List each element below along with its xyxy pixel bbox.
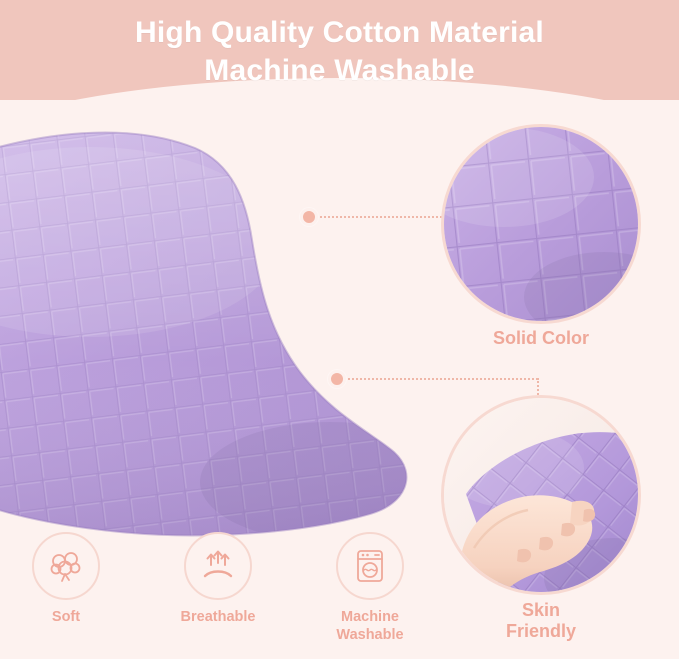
washing-machine-icon [336, 532, 404, 600]
feature-machine-washable-label: Machine Washable [322, 608, 418, 644]
product-pillow-image [0, 122, 440, 542]
callout-dot-solid-color [300, 208, 318, 226]
feature-soft: Soft [18, 532, 114, 644]
page-title: High Quality Cotton Material Machine Was… [0, 14, 679, 91]
callout-label-skin-friendly: Skin Friendly [431, 600, 651, 641]
feature-machine-washable-label-line2: Washable [322, 626, 418, 644]
cotton-ball-icon [32, 532, 100, 600]
product-infographic: High Quality Cotton Material Machine Was… [0, 0, 679, 659]
callout-label-solid-color-line1: Solid Color [493, 328, 589, 348]
title-line-1: High Quality Cotton Material [135, 16, 544, 49]
breathable-arrows-glyph [200, 549, 236, 583]
feature-soft-label-line1: Soft [52, 609, 80, 625]
header-banner: High Quality Cotton Material Machine Was… [0, 0, 679, 112]
solid-color-closeup [444, 127, 641, 324]
cotton-ball-glyph [48, 549, 84, 583]
callout-label-skin-friendly-line1: Skin [522, 600, 560, 620]
callout-label-solid-color: Solid Color [431, 328, 651, 349]
connector-line-top [320, 216, 442, 218]
feature-breathable-label: Breathable [170, 608, 266, 626]
callout-dot-skin-friendly [328, 370, 346, 388]
feature-machine-washable: Machine Washable [322, 532, 418, 644]
feature-machine-washable-label-line1: Machine [341, 609, 399, 625]
feature-breathable-label-line1: Breathable [181, 609, 256, 625]
breathable-arrows-icon [184, 532, 252, 600]
feature-list: Soft Breathable [18, 532, 418, 644]
skin-friendly-closeup [444, 398, 641, 595]
title-line-2: Machine Washable [0, 52, 679, 90]
washing-machine-glyph [353, 548, 387, 584]
product-photo-area: Solid Color [0, 100, 679, 659]
callout-circle-solid-color [441, 124, 641, 324]
callout-label-skin-friendly-line2: Friendly [431, 621, 651, 642]
connector-line-bottom [348, 378, 538, 380]
pillow-shape [0, 122, 440, 542]
feature-soft-label: Soft [18, 608, 114, 626]
callout-circle-skin-friendly [441, 395, 641, 595]
feature-breathable: Breathable [170, 532, 266, 644]
